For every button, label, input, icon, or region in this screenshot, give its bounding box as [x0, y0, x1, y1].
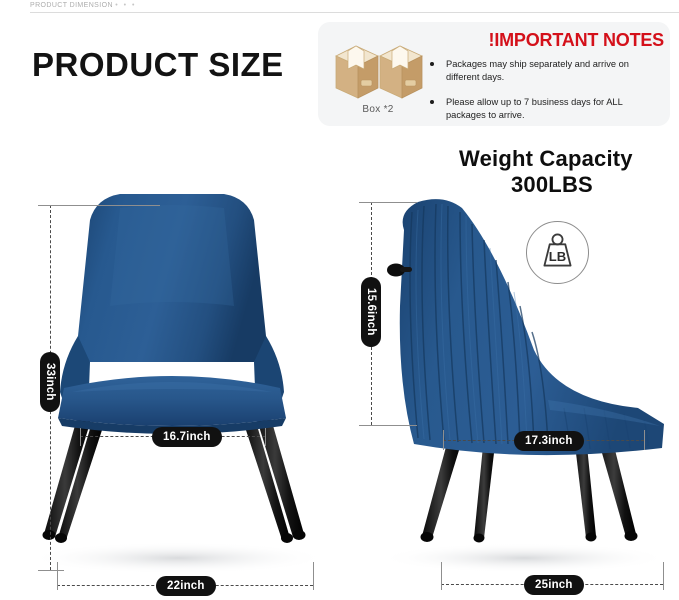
box-count-caption: Box *2 [330, 104, 426, 115]
breadcrumb-dots: • • • [115, 2, 136, 9]
dimension-tick-left [80, 428, 81, 446]
breadcrumb: PRODUCT DIMENSION • • • [30, 2, 137, 9]
dimension-tick-right [644, 430, 645, 450]
dimension-tick-top [359, 202, 417, 203]
note-text: Please allow up to 7 business days for A… [446, 96, 662, 122]
page-title: PRODUCT SIZE [32, 46, 284, 84]
dimension-label-overall-width: 22inch [156, 576, 216, 596]
dimension-tick-left [443, 430, 444, 450]
note-item: Please allow up to 7 business days for A… [430, 96, 662, 122]
dimension-tick-bottom [359, 425, 417, 426]
bullet-icon [430, 62, 434, 66]
dimension-tick-left [57, 562, 58, 590]
header-divider [30, 12, 679, 13]
dimension-tick-right [313, 562, 314, 590]
weight-capacity-title: Weight Capacity [459, 146, 633, 172]
cardboard-boxes-icon [330, 36, 426, 114]
product-dimension-infographic: PRODUCT DIMENSION • • • PRODUCT SIZE Box… [0, 0, 679, 600]
dimension-label-height: 33inch [40, 352, 60, 412]
dimension-tick-top [38, 205, 160, 206]
bullet-icon [430, 100, 434, 104]
important-notes-panel: Box *2 !IMPORTANT NOTES Packages may shi… [318, 22, 670, 126]
dimension-tick-left [441, 562, 442, 590]
note-item: Packages may ship separately and arrive … [430, 58, 662, 84]
note-text: Packages may ship separately and arrive … [446, 58, 662, 84]
dimension-tick-bottom [38, 570, 64, 571]
dining-chair-front-view [28, 186, 316, 578]
dimension-label-seat-width: 16.7inch [152, 427, 222, 447]
dimension-label-back-height: 15.6inch [361, 277, 381, 347]
dimension-label-overall-depth: 25inch [524, 575, 584, 595]
dimension-tick-right [265, 428, 266, 446]
dimension-label-seat-depth: 17.3inch [514, 431, 584, 451]
dining-chair-side-view [378, 186, 670, 578]
dimension-tick-right [663, 562, 664, 590]
breadcrumb-label: PRODUCT DIMENSION [30, 2, 113, 9]
notes-title: !IMPORTANT NOTES [436, 30, 664, 51]
